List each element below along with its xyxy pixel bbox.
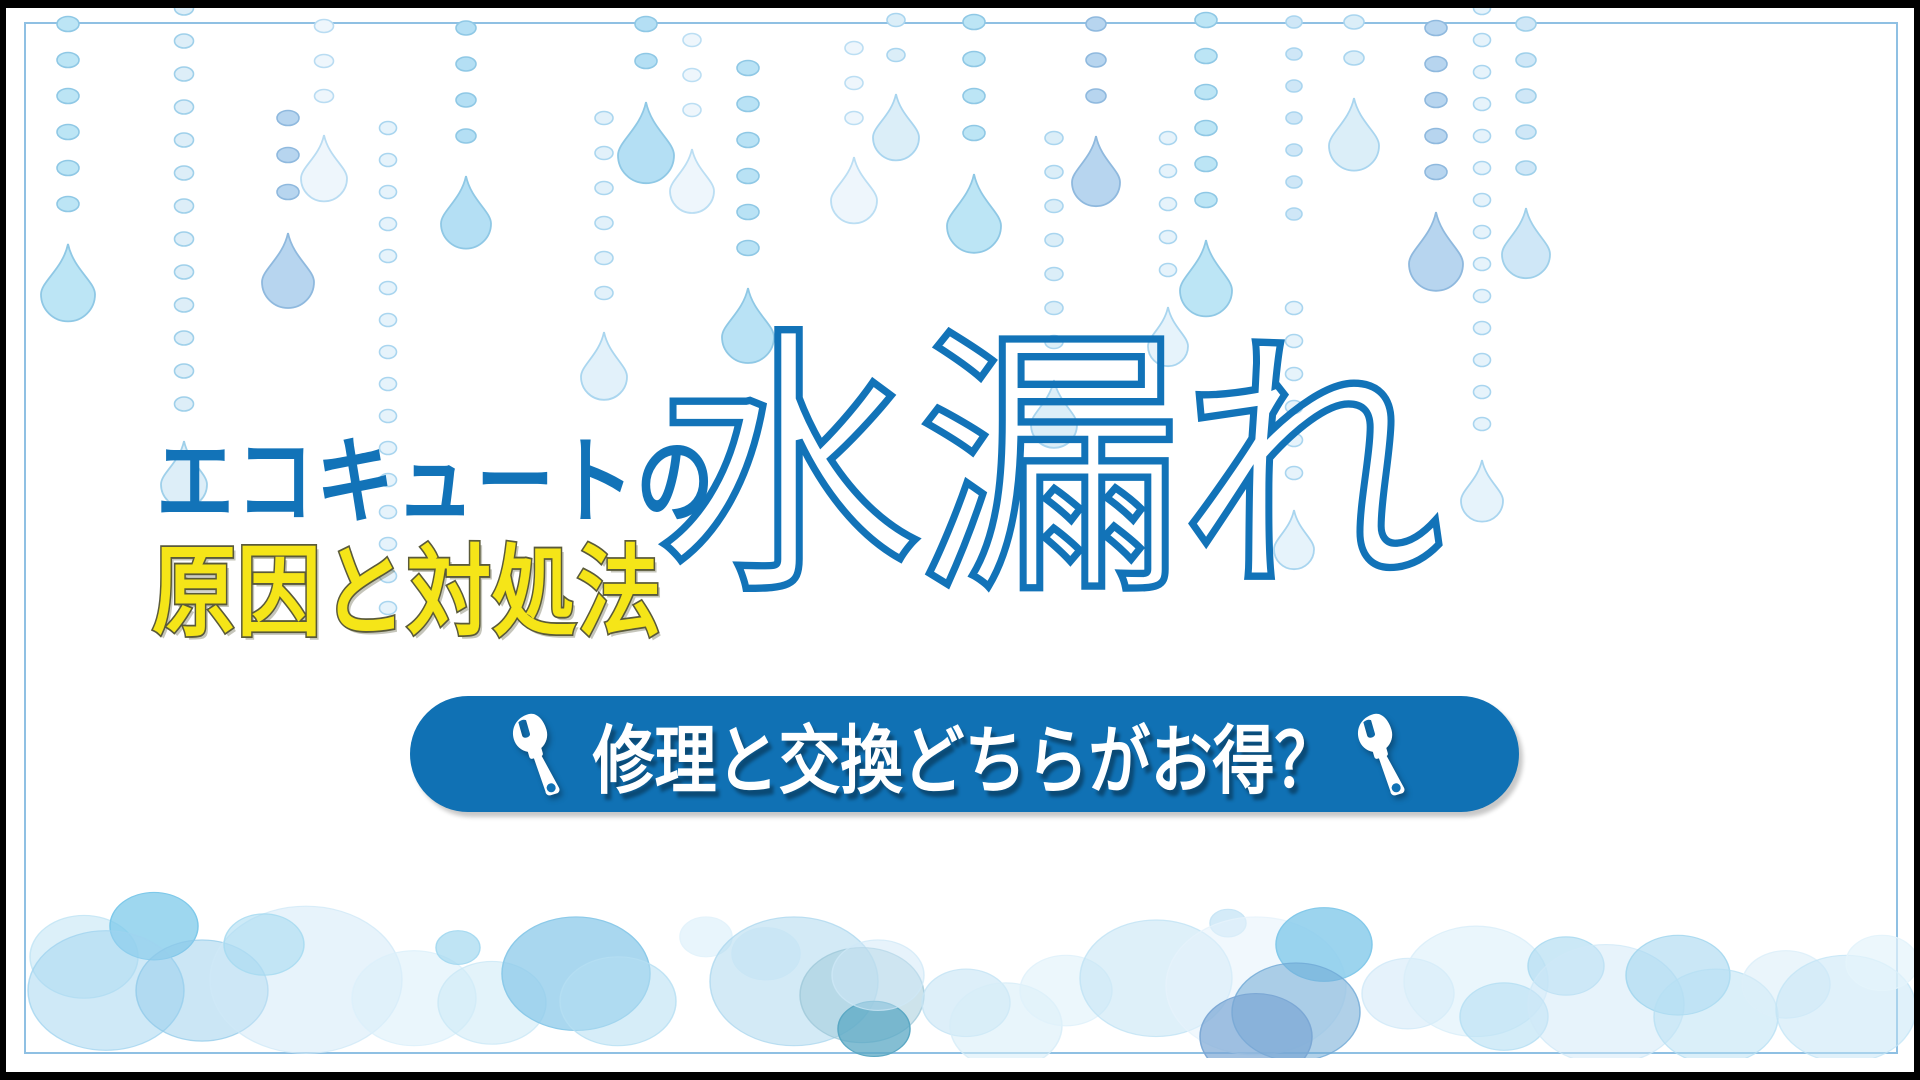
droplet-bead <box>1045 200 1063 213</box>
wrench-icon <box>510 708 574 800</box>
droplet-bead <box>963 126 985 141</box>
droplet-bead <box>1195 121 1217 136</box>
droplet-string <box>670 34 714 214</box>
droplet-string <box>947 15 1001 253</box>
bubble <box>436 931 480 965</box>
bubble <box>352 951 476 1046</box>
droplet-bead <box>380 538 397 551</box>
droplet-bead <box>1286 208 1302 220</box>
bubble <box>502 917 650 1030</box>
droplet-bead <box>175 265 194 279</box>
bubble <box>1776 955 1914 1058</box>
droplet-bead <box>1516 17 1536 31</box>
water-droplet-icon <box>1329 98 1379 171</box>
bubble <box>832 940 924 1011</box>
droplet-bead <box>380 250 397 263</box>
droplet-bead <box>380 506 397 519</box>
droplet-bead <box>963 89 985 104</box>
droplet-bead <box>683 104 701 117</box>
droplet-string <box>581 112 627 400</box>
headline-group: 水漏れ エコキュートの 原因と対処法 <box>6 8 1914 1072</box>
droplet-bead <box>595 252 613 265</box>
droplet-bead <box>1286 401 1303 414</box>
droplet-bead <box>1160 165 1177 178</box>
droplet-bead <box>175 133 194 147</box>
droplet-bead <box>1195 49 1217 64</box>
water-droplet-icon <box>670 149 714 213</box>
bubble <box>922 969 1010 1036</box>
droplet-bead <box>1160 264 1177 277</box>
droplet-bead <box>1474 194 1491 207</box>
droplet-bead <box>1474 8 1491 15</box>
droplet-string <box>618 17 674 184</box>
water-droplet-icon <box>1409 212 1463 291</box>
droplet-bead <box>277 148 299 163</box>
droplet-bead <box>1516 89 1536 103</box>
bubble <box>1460 983 1548 1050</box>
droplet-bead <box>57 197 79 212</box>
water-droplet-icon <box>581 332 627 400</box>
droplet-bead <box>1425 21 1447 36</box>
bubble <box>710 917 878 1046</box>
water-droplet-icon <box>41 244 95 321</box>
droplet-bead <box>1086 53 1106 67</box>
droplet-bead <box>1474 130 1491 143</box>
droplet-bead <box>845 112 863 125</box>
bubble <box>1654 969 1778 1058</box>
droplet-bead <box>175 397 194 411</box>
droplet-bead <box>1516 161 1536 175</box>
droplet-bead <box>737 133 759 148</box>
bubble <box>560 957 676 1046</box>
droplet-bead <box>683 69 701 82</box>
droplet-bead <box>963 15 985 30</box>
droplet-bead <box>1425 93 1447 108</box>
bubble <box>1020 955 1112 1026</box>
droplet-string <box>1461 8 1503 522</box>
bubble <box>800 948 924 1043</box>
water-droplet-icon <box>722 288 774 363</box>
droplet-bead <box>380 602 397 615</box>
droplet-bead <box>1160 132 1177 145</box>
droplet-bead <box>1045 132 1063 145</box>
droplet-bead <box>1474 34 1491 47</box>
droplet-string <box>722 61 774 364</box>
droplet-bead <box>57 125 79 140</box>
droplet-string <box>161 8 207 507</box>
droplet-bead <box>175 364 194 378</box>
water-droplet-icon <box>618 102 674 183</box>
droplet-bead <box>1474 322 1491 335</box>
droplet-bead <box>887 14 905 27</box>
droplet-bead <box>1516 125 1536 139</box>
droplet-bead <box>1474 386 1491 399</box>
droplet-bead <box>175 100 194 114</box>
droplet-bead <box>380 474 397 487</box>
bubble <box>680 917 732 957</box>
droplet-string <box>1502 17 1550 278</box>
droplet-string <box>301 20 347 202</box>
droplet-string <box>262 111 314 309</box>
droplet-bead <box>1045 302 1063 315</box>
water-droplet-icon <box>161 441 207 507</box>
question-banner-text: 修理と交換どちらがお得？ <box>592 700 1336 808</box>
droplet-bead <box>1286 302 1303 315</box>
droplet-bead <box>456 21 476 35</box>
bubble <box>950 983 1062 1058</box>
droplet-bead <box>1195 157 1217 172</box>
water-droplet-icon <box>873 94 919 160</box>
droplet-bead <box>456 93 476 107</box>
droplet-bead <box>1286 176 1302 188</box>
droplet-string <box>1072 17 1120 206</box>
droplet-bead <box>277 185 299 200</box>
water-droplet-icon <box>262 233 314 308</box>
water-droplet-icon <box>947 174 1001 253</box>
bubble <box>1626 935 1730 1015</box>
droplet-string <box>1286 16 1302 220</box>
droplet-bead <box>1195 85 1217 100</box>
droplet-bead <box>456 129 476 143</box>
droplet-bead <box>1474 162 1491 175</box>
droplet-bead <box>737 169 759 184</box>
droplet-bead <box>175 166 194 180</box>
droplet-bead <box>57 53 79 68</box>
droplet-string <box>1409 21 1463 291</box>
droplet-string <box>1329 15 1379 171</box>
droplet-bead <box>737 61 759 76</box>
droplet-bead <box>175 199 194 213</box>
droplet-bead <box>380 314 397 327</box>
poster-canvas: 水漏れ エコキュートの 原因と対処法 修理と交換どちらがお得？ <box>0 0 1920 1080</box>
droplet-bead <box>1286 48 1302 60</box>
droplet-bead <box>1344 51 1364 65</box>
water-droplet-icon <box>301 135 347 201</box>
droplet-bead <box>380 282 397 295</box>
droplet-string <box>1274 302 1314 570</box>
bubble <box>136 940 268 1041</box>
bubble <box>1080 920 1232 1037</box>
headline-main-kanji: 水漏れ <box>654 240 1440 647</box>
droplet-bead <box>1474 98 1491 111</box>
droplet-bead <box>380 186 397 199</box>
droplet-bead <box>380 378 397 391</box>
droplet-string <box>41 17 95 322</box>
droplet-bead <box>737 97 759 112</box>
droplet-bead <box>1425 165 1447 180</box>
droplet-bead <box>1086 89 1106 103</box>
water-droplet-icon <box>1031 380 1077 448</box>
bubbles-decor <box>6 828 1914 1058</box>
droplet-bead <box>1474 258 1491 271</box>
bubble <box>224 914 304 975</box>
droplet-bead <box>1344 15 1364 29</box>
droplet-bead <box>1045 234 1063 247</box>
droplet-bead <box>1474 354 1491 367</box>
poster-inner-border <box>24 22 1898 1054</box>
droplet-bead <box>456 57 476 71</box>
water-droplet-icon <box>1502 208 1550 278</box>
droplet-bead <box>1195 193 1217 208</box>
bubble <box>1404 926 1548 1036</box>
droplet-bead <box>175 331 194 345</box>
water-droplet-icon <box>1461 460 1503 522</box>
droplet-bead <box>1286 467 1303 480</box>
droplet-bead <box>887 49 905 62</box>
poster-card: 水漏れ エコキュートの 原因と対処法 修理と交換どちらがお得？ <box>6 8 1914 1072</box>
bubble <box>732 928 800 980</box>
bubble <box>1362 958 1454 1029</box>
droplet-string <box>1148 132 1188 367</box>
droplet-bead <box>175 67 194 81</box>
droplet-bead <box>1045 336 1063 349</box>
water-droplet-icon <box>1180 240 1232 316</box>
droplet-bead <box>175 34 194 48</box>
water-droplet-icon <box>1072 136 1120 206</box>
droplet-bead <box>175 298 194 312</box>
droplet-bead <box>175 8 194 15</box>
bubble <box>1166 917 1346 1055</box>
water-droplet-icon <box>831 157 877 223</box>
bubble <box>1742 951 1830 1018</box>
droplet-bead <box>315 55 334 68</box>
droplet-bead <box>845 42 863 55</box>
droplet-bead <box>380 154 397 167</box>
question-banner: 修理と交換どちらがお得？ <box>410 696 1519 812</box>
bubble <box>1200 994 1312 1058</box>
droplet-bead <box>1474 66 1491 79</box>
droplet-bead <box>595 182 613 195</box>
bubble <box>28 931 184 1051</box>
droplet-bead <box>277 111 299 126</box>
droplet-bead <box>1286 335 1303 348</box>
droplet-bead <box>1286 144 1302 156</box>
droplet-string <box>1031 132 1077 448</box>
droplet-bead <box>380 122 397 135</box>
headline-product-line: エコキュートの <box>156 406 716 543</box>
bubble <box>438 961 546 1044</box>
water-droplet-icon <box>1148 307 1188 366</box>
droplet-bead <box>175 232 194 246</box>
droplet-bead <box>1286 434 1303 447</box>
bubble <box>210 906 402 1053</box>
droplet-strings-decor <box>6 8 1914 628</box>
droplet-bead <box>1160 198 1177 211</box>
droplet-bead <box>1286 16 1302 28</box>
droplet-string <box>831 42 877 224</box>
droplet-bead <box>1474 290 1491 303</box>
droplet-bead <box>1425 129 1447 144</box>
droplet-bead <box>380 218 397 231</box>
droplet-bead <box>845 77 863 90</box>
bubble <box>30 915 138 998</box>
droplet-bead <box>315 90 334 103</box>
droplet-bead <box>57 161 79 176</box>
droplet-bead <box>595 217 613 230</box>
droplet-bead <box>1045 166 1063 179</box>
bubble <box>1232 963 1360 1058</box>
droplet-bead <box>635 54 657 69</box>
droplet-string <box>873 14 919 161</box>
headline-subject-line: 原因と対処法 <box>152 513 662 656</box>
droplet-bead <box>1286 112 1302 124</box>
droplet-bead <box>1195 13 1217 28</box>
droplet-bead <box>1045 268 1063 281</box>
water-droplet-icon <box>441 176 491 249</box>
droplet-bead <box>1286 80 1302 92</box>
droplet-bead <box>57 89 79 104</box>
droplet-bead <box>963 52 985 67</box>
droplet-bead <box>380 346 397 359</box>
droplet-bead <box>1474 226 1491 239</box>
droplet-bead <box>595 287 613 300</box>
bubble <box>110 892 198 959</box>
droplet-bead <box>1086 17 1106 31</box>
droplet-bead <box>1286 368 1303 381</box>
droplet-bead <box>1425 57 1447 72</box>
droplet-bead <box>595 147 613 160</box>
droplet-bead <box>737 205 759 220</box>
bubble <box>1846 935 1914 990</box>
bubble <box>1276 908 1372 982</box>
droplet-bead <box>683 34 701 47</box>
bubble <box>1210 909 1246 937</box>
droplet-bead <box>1516 53 1536 67</box>
droplet-string <box>368 122 408 629</box>
droplet-string <box>1180 13 1232 317</box>
droplet-bead <box>57 17 79 32</box>
bubble <box>838 1001 910 1056</box>
droplet-bead <box>737 241 759 256</box>
droplet-bead <box>380 442 397 455</box>
droplet-bead <box>380 570 397 583</box>
wrench-icon <box>1355 708 1419 800</box>
droplet-bead <box>595 112 613 125</box>
droplet-bead <box>380 410 397 423</box>
droplet-bead <box>315 20 334 33</box>
droplet-bead <box>1474 418 1491 431</box>
bubble <box>1528 945 1684 1058</box>
droplet-bead <box>1160 231 1177 244</box>
droplet-bead <box>635 17 657 32</box>
water-droplet-icon <box>1274 510 1314 569</box>
bubble <box>1528 937 1604 995</box>
droplet-string <box>441 21 491 249</box>
